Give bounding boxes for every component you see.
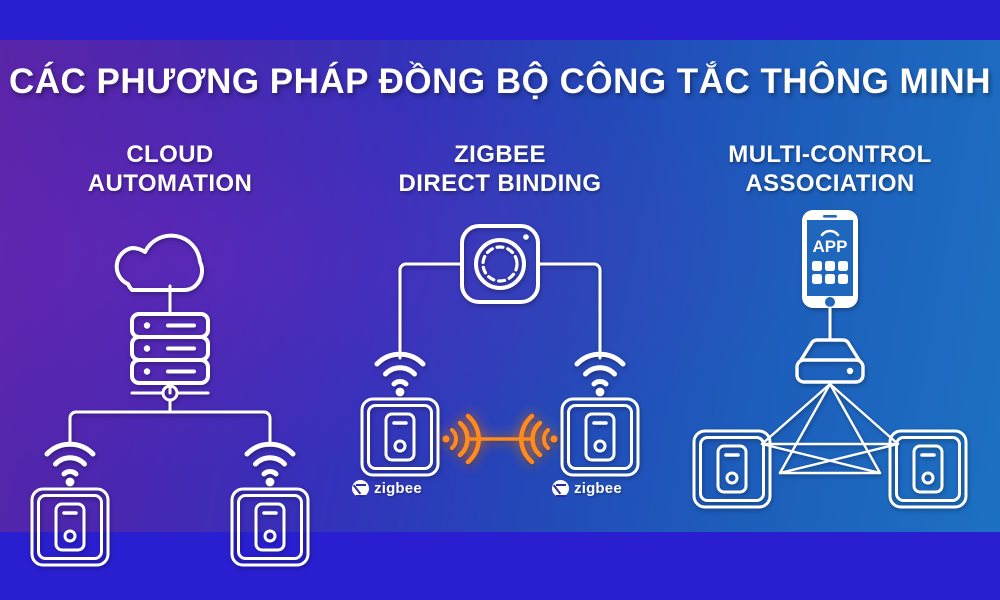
column-heading-zigbee-direct-binding: ZIGBEE DIRECT BINDING xyxy=(340,140,660,199)
heading-line-2: ASSOCIATION xyxy=(670,169,990,198)
heading-line-1: ZIGBEE xyxy=(340,140,660,169)
direct-binding-link xyxy=(442,416,557,462)
smart-switch-icon xyxy=(362,399,438,475)
wifi-icon xyxy=(577,354,623,396)
heading-line-1: MULTI-CONTROL xyxy=(670,140,990,169)
wifi-icon xyxy=(47,444,93,486)
mesh-network-icon xyxy=(762,384,898,473)
heading-line-1: CLOUD xyxy=(10,140,330,169)
heading-line-2: AUTOMATION xyxy=(10,169,330,198)
top-band xyxy=(0,0,1000,40)
infographic-canvas: CÁC PHƯƠNG PHÁP ĐỒNG BỘ CÔNG TẮC THÔNG M… xyxy=(0,0,1000,600)
bottom-band xyxy=(0,532,1000,600)
zigbee-label-left: zigbee xyxy=(352,480,422,497)
connector-hub-right xyxy=(538,264,600,358)
wifi-icon xyxy=(247,444,293,486)
gateway-router-icon xyxy=(797,340,863,382)
server-rack-icon xyxy=(132,314,208,383)
connector-branch xyxy=(70,412,170,444)
zigbee-label-right: zigbee xyxy=(552,480,622,497)
bus-junction xyxy=(132,383,208,412)
smart-switch-icon xyxy=(694,431,770,507)
column-cloud-automation: CLOUD AUTOMATION xyxy=(10,100,330,520)
diagram-cloud-automation xyxy=(10,208,330,518)
heading-line-2: DIRECT BINDING xyxy=(340,169,660,198)
zigbee-label-text: zigbee xyxy=(374,480,422,497)
app-label: APP xyxy=(813,237,848,256)
diagram-multi-control-association: APP xyxy=(670,208,990,518)
zigbee-logo-icon xyxy=(352,480,369,497)
wifi-icon xyxy=(377,354,423,396)
page-title: CÁC PHƯƠNG PHÁP ĐỒNG BỘ CÔNG TẮC THÔNG M… xyxy=(0,62,1000,102)
smart-switch-icon xyxy=(562,399,638,475)
column-multi-control-association: MULTI-CONTROL ASSOCIATION APP xyxy=(670,100,990,520)
zigbee-logo-icon xyxy=(552,480,569,497)
column-heading-cloud-automation: CLOUD AUTOMATION xyxy=(10,140,330,199)
column-zigbee-direct-binding: ZIGBEE DIRECT BINDING xyxy=(340,100,660,520)
column-heading-multi-control-association: MULTI-CONTROL ASSOCIATION xyxy=(670,140,990,199)
zigbee-label-text: zigbee xyxy=(574,480,622,497)
diagram-zigbee-direct-binding: zigbee zigbee xyxy=(340,208,660,518)
zigbee-hub-icon xyxy=(462,226,538,302)
smart-switch-icon xyxy=(890,431,966,507)
cloud-icon xyxy=(117,236,202,290)
connector-hub-left xyxy=(400,264,462,358)
smartphone-app-icon: APP xyxy=(802,210,858,308)
